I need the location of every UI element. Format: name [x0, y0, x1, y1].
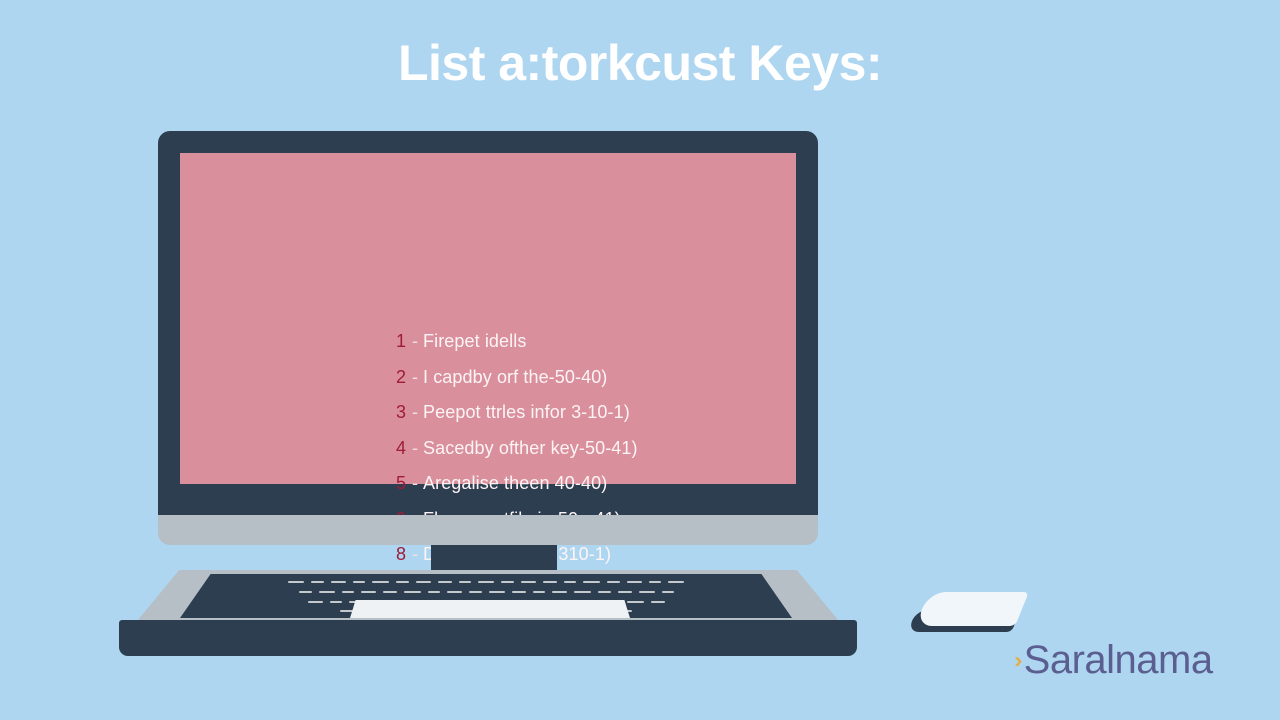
brand-name: Saralnama [1024, 640, 1213, 680]
list-item: 3 - Peepot ttrles infor 3-10-1) [396, 402, 956, 438]
list-item-text: Sacedby ofther key-50-41) [423, 438, 638, 459]
list-item: 4 - Sacedby ofther key-50-41) [396, 438, 956, 474]
laptop-body [119, 620, 857, 656]
keyboard-row [180, 581, 792, 583]
laptop-screen-base-strip [158, 515, 818, 545]
list-item-number: 3 [396, 402, 407, 423]
chevron-right-icon: › [1014, 649, 1023, 671]
list-item-dash: - [412, 331, 418, 352]
list-item-dash: - [412, 544, 418, 565]
list-item-number: 5 [396, 473, 407, 494]
list-item-dash: - [412, 438, 418, 459]
list-item-number: 8 [396, 544, 407, 565]
laptop-illustration: 1 - Firepet idells 2 - I capdby orf the-… [0, 0, 1280, 720]
list-item-dash: - [412, 473, 418, 494]
brand-logo: › Saralnama [1014, 640, 1213, 680]
list-item: 1 - Firepet idells [396, 331, 956, 367]
list-item-number: 1 [396, 331, 407, 352]
list-item: 2 - I capdby orf the-50-40) [396, 367, 956, 403]
list-item-text: Aregalise theen 40-40) [423, 473, 607, 494]
mouse-top [915, 592, 1029, 626]
list-item-number: 4 [396, 438, 407, 459]
keyboard-row [180, 591, 792, 593]
keyboard-spacebar [350, 600, 630, 618]
list-item-text: Peepot ttrles infor 3-10-1) [423, 402, 630, 423]
list-item-number: 2 [396, 367, 407, 388]
list-item-dash: - [412, 402, 418, 423]
list-item: 5 - Aregalise theen 40-40) [396, 473, 956, 509]
list-item-text: Firepet idells [423, 331, 526, 352]
laptop-screen-display: 1 - Firepet idells 2 - I capdby orf the-… [180, 153, 796, 484]
list-item-dash: - [412, 367, 418, 388]
slide-canvas: List a:torkcust Keys: 1 - Firepet idells… [0, 0, 1280, 720]
mouse-illustration [912, 592, 1024, 642]
list-item-text: I capdby orf the-50-40) [423, 367, 607, 388]
